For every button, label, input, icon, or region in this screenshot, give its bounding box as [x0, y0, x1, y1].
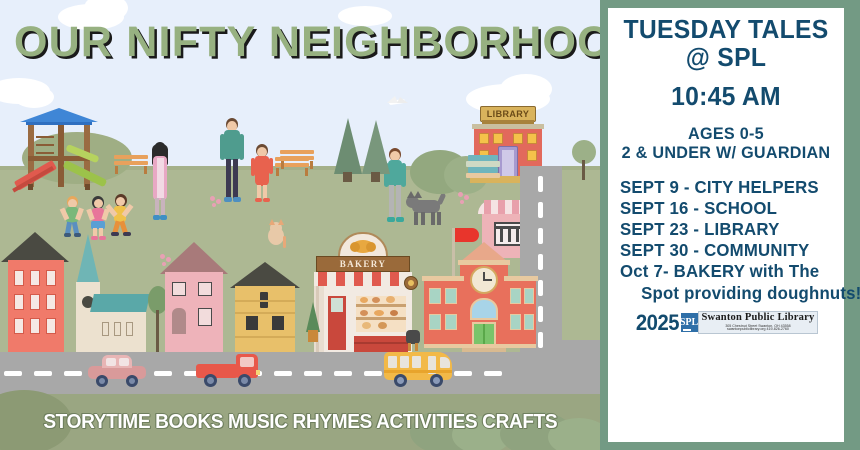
road-dash	[484, 371, 502, 376]
event-title-line1: TUESDAY TALES	[620, 16, 833, 44]
event-schedule-list: SEPT 9 - CITY HELPERS SEPT 16 - SCHOOL S…	[614, 177, 838, 304]
library-logo: 2025 SPL Swanton Public Library 305 Ches…	[614, 310, 838, 336]
house-yellow	[232, 262, 298, 352]
park-bench	[114, 157, 148, 177]
road-dash	[334, 371, 352, 376]
bakery-building: BAKERY	[308, 232, 414, 352]
road-dash	[538, 228, 543, 244]
road-dash	[274, 371, 292, 376]
person-woman-pink-coat	[148, 140, 172, 222]
spl-badge-icon: SPL	[681, 313, 698, 332]
schedule-item: SEPT 16 - SCHOOL	[620, 198, 829, 219]
road-dash	[538, 280, 543, 296]
person-girl-red-dress	[252, 144, 272, 204]
event-info-panel: TUESDAY TALES @ SPL 10:45 AM AGES 0-5 2 …	[608, 8, 844, 442]
school-building	[424, 236, 536, 354]
library-name: Swanton Public Library	[702, 313, 815, 324]
road-dash	[304, 371, 322, 376]
road-dash	[364, 371, 382, 376]
road-dash	[4, 371, 22, 376]
round-tree	[570, 140, 598, 184]
road-dash	[538, 202, 543, 218]
year-label: 2025	[635, 310, 678, 336]
event-ages-line2: 2 & UNDER W/ GUARDIAN	[620, 144, 833, 162]
road-dash	[154, 371, 172, 376]
road-dash	[64, 371, 82, 376]
road-dash	[538, 306, 543, 322]
event-title-line2: @ SPL	[620, 44, 833, 72]
vehicle-school-bus	[384, 348, 460, 386]
bakery-sign-label: BAKERY	[316, 257, 410, 271]
road-dash	[34, 371, 52, 376]
activities-banner: STORYTIME BOOKS MUSIC RHYMES ACTIVITIES …	[0, 394, 600, 450]
house-pink	[160, 242, 228, 352]
pine-tree	[358, 120, 394, 190]
cat-animal	[264, 222, 288, 252]
schedule-item: Spot providing doughnuts!	[620, 283, 829, 304]
neighborhood-illustration: OUR NIFTY NEIGHBORHOOD	[0, 0, 600, 450]
church-building	[70, 234, 142, 352]
schedule-item: SEPT 30 - COMMUNITY	[620, 240, 829, 261]
library-contact: swantonpubliclibrary.org 419-826-2760	[702, 328, 815, 332]
road-dash	[538, 332, 543, 348]
cloud-icon	[500, 74, 552, 104]
poster-root: OUR NIFTY NEIGHBORHOOD	[0, 0, 860, 450]
vehicle-car-pink	[88, 354, 146, 386]
road-dash	[538, 254, 543, 270]
library-sign-label: LIBRARY	[480, 107, 536, 121]
library-logo-block: Swanton Public Library 305 Chestnut Stre…	[698, 311, 819, 334]
page-title: OUR NIFTY NEIGHBORHOOD	[14, 18, 594, 67]
schedule-item: Oct 7- BAKERY with The	[620, 261, 829, 282]
event-ages-line1: AGES 0-5	[620, 125, 833, 143]
person-man-teal	[220, 118, 244, 204]
dog-animal	[406, 190, 450, 226]
activities-banner-text: STORYTIME BOOKS MUSIC RHYMES ACTIVITIES …	[43, 410, 557, 434]
schedule-item: SEPT 9 - CITY HELPERS	[620, 177, 829, 198]
bird-icon	[385, 96, 411, 108]
schedule-item: SEPT 23 - LIBRARY	[620, 219, 829, 240]
cloud-icon	[14, 86, 54, 108]
road-dash	[538, 176, 543, 192]
vehicle-truck-red	[196, 352, 260, 386]
playground-structure	[10, 120, 122, 192]
house-red-apartment	[4, 232, 66, 352]
event-time: 10:45 AM	[620, 83, 833, 111]
park-bench	[280, 150, 314, 170]
